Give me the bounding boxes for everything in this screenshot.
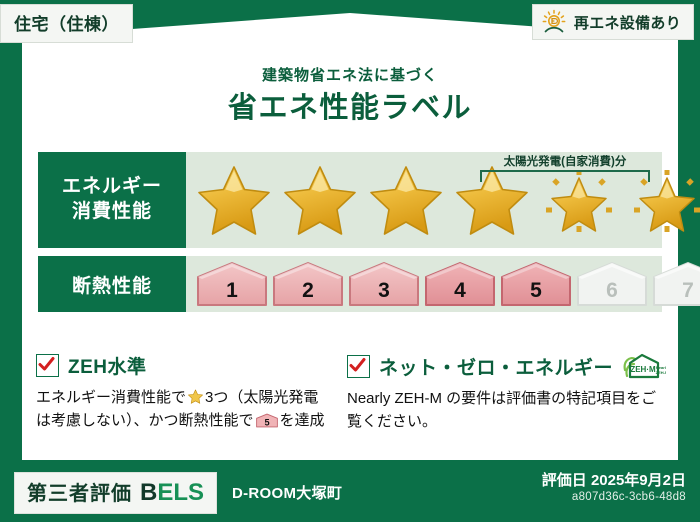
energy-label-line2: 消費性能 xyxy=(72,200,152,225)
zeh-m-logo-icon: ZEH·M Nearly ZEH-M xyxy=(622,352,666,380)
insulation-level-1-number: 1 xyxy=(196,279,268,303)
svg-text:ZEH·M: ZEH·M xyxy=(630,365,656,374)
star-solar-1 xyxy=(536,158,622,242)
evaluation-date: 評価日 2025年9月2日 xyxy=(542,469,686,490)
star-rating xyxy=(192,152,700,248)
svg-text:ZEH-M: ZEH-M xyxy=(656,370,666,375)
note-zeh-text-1: エネルギー消費性能で xyxy=(36,389,186,406)
energy-performance-label-box: エネルギー 消費性能 xyxy=(38,152,186,248)
insulation-level-4: 4 xyxy=(424,261,496,307)
evaluation-date-value: 2025年9月2日 xyxy=(591,472,686,489)
footer: 第三者評価 BELS D-ROOM大塚町 評価日 2025年9月2日 a807d… xyxy=(0,460,700,522)
bels-logo: BELS xyxy=(140,479,204,507)
insulation-level-7: 7 xyxy=(652,261,700,307)
label-subtitle: 建築物省エネ法に基づく xyxy=(0,64,700,85)
note-zeh-text-3: を達成 xyxy=(280,412,325,429)
page-title: 省エネ性能ラベル xyxy=(0,84,700,126)
third-party-evaluation-label: 第三者評価 xyxy=(27,477,132,506)
insulation-levels-panel: 1 2 3 xyxy=(186,256,662,312)
note-zeh-level: ZEH水準 エネルギー消費性能で3つ（太陽光発電は考慮しない）、かつ断熱性能で5… xyxy=(36,352,329,434)
insulation-level-6: 6 xyxy=(576,261,648,307)
energy-label-line1: エネルギー xyxy=(62,175,162,200)
note-net-zero-energy: ネット・ゼロ・エネルギー ZEH·M Nearly ZEH-M Nearly Z… xyxy=(347,352,666,434)
metrics-section: エネルギー 消費性能 xyxy=(38,152,662,320)
insulation-performance-row: 断熱性能 xyxy=(38,256,662,312)
inline-star-icon xyxy=(187,388,204,405)
insulation-level-2-number: 2 xyxy=(272,279,344,303)
energy-performance-stars-panel: 太陽光発電(自家消費)分 xyxy=(186,152,662,248)
checkmark-icon xyxy=(36,354,59,377)
inline-house-badge: 5 xyxy=(256,412,278,429)
insulation-level-3: 3 xyxy=(348,261,420,307)
dwelling-type-badge: 住宅（住棟） xyxy=(0,4,133,43)
bels-certification-badge: 第三者評価 BELS xyxy=(14,472,217,514)
note-zeh-level-title: ZEH水準 xyxy=(68,352,147,379)
notes-section: ZEH水準 エネルギー消費性能で3つ（太陽光発電は考慮しない）、かつ断熱性能で5… xyxy=(36,352,666,434)
bels-logo-els: ELS xyxy=(157,479,204,506)
svg-text:5: 5 xyxy=(264,418,269,428)
star-solar-2 xyxy=(624,158,700,242)
star-filled-1 xyxy=(192,158,276,242)
insulation-level-7-number: 7 xyxy=(652,279,700,303)
insulation-level-4-number: 4 xyxy=(424,279,496,303)
note-net-zero-title: ネット・ゼロ・エネルギー xyxy=(379,353,613,380)
dwelling-type-label: 住宅（住棟） xyxy=(14,15,119,34)
insulation-label: 断熱性能 xyxy=(72,271,152,298)
insulation-performance-label-box: 断熱性能 xyxy=(38,256,186,312)
bels-logo-b: B xyxy=(140,479,157,506)
evaluation-date-label: 評価日 xyxy=(542,472,587,489)
renewable-energy-label: 再エネ設備あり xyxy=(574,12,681,33)
insulation-level-5-number: 5 xyxy=(500,279,572,303)
star-filled-3 xyxy=(364,158,448,242)
renewable-energy-badge: 再エネ設備あり xyxy=(532,4,694,40)
star-filled-2 xyxy=(278,158,362,242)
insulation-level-2: 2 xyxy=(272,261,344,307)
label-id: a807d36c-3cb6-48d8 xyxy=(572,491,686,503)
note-zeh-level-body: エネルギー消費性能で3つ（太陽光発電は考慮しない）、かつ断熱性能で5を達成 xyxy=(36,386,329,433)
energy-performance-label: 住宅（住棟） 再エネ設備あり 建築物省エネ法に基づく 省エ xyxy=(0,0,700,522)
note-net-zero-header: ネット・ゼロ・エネルギー ZEH·M Nearly ZEH-M xyxy=(347,352,666,380)
insulation-level-3-number: 3 xyxy=(348,279,420,303)
energy-performance-row: エネルギー 消費性能 xyxy=(38,152,662,248)
insulation-level-scale: 1 2 3 xyxy=(196,256,700,312)
sun-icon xyxy=(541,9,567,35)
star-filled-4 xyxy=(450,158,534,242)
project-name: D-ROOM大塚町 xyxy=(232,482,342,503)
insulation-level-5: 5 xyxy=(500,261,572,307)
note-zeh-level-header: ZEH水準 xyxy=(36,352,329,379)
note-net-zero-body: Nearly ZEH-M の要件は評価書の特記項目をご覧ください。 xyxy=(347,387,666,434)
checkmark-icon xyxy=(347,355,370,378)
insulation-level-1: 1 xyxy=(196,261,268,307)
insulation-level-6-number: 6 xyxy=(576,279,648,303)
